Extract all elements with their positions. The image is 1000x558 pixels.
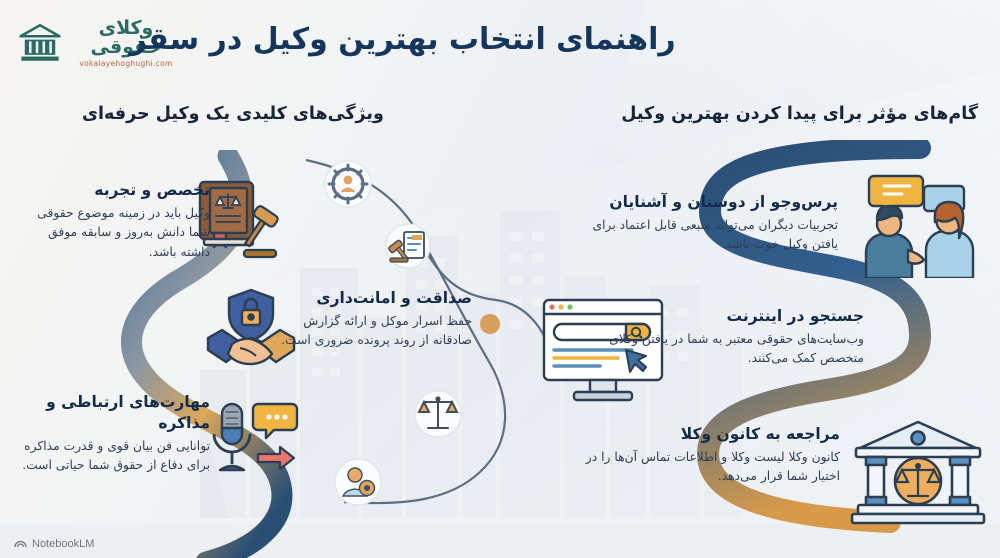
spine-node-person-badge xyxy=(335,459,381,505)
page-title: راهنمای انتخاب بهترین وکیل در سقز xyxy=(0,22,805,57)
step-body: کانون وکلا لیست وکلا و اطلاعات تماس آن‌ه… xyxy=(572,448,840,487)
footer-band xyxy=(0,524,1000,558)
trait-item-honesty: صداقت و امانت‌داری حفظ اسرار موکل و ارائ… xyxy=(272,288,472,351)
notebooklm-watermark: NotebookLM xyxy=(14,537,94,550)
infographic-canvas: وکلای حقوقی vokalayehoghughi.com راهنمای… xyxy=(0,0,1000,558)
step-title: جستجو در اینترنت xyxy=(600,306,864,327)
section-heading-traits: ویژگی‌های کلیدی یک وکیل حرفه‌ای xyxy=(82,104,384,124)
trait-title: صداقت و امانت‌داری xyxy=(272,288,472,309)
spine-dot-accent xyxy=(480,314,500,334)
courthouse-scales-icon xyxy=(848,418,988,526)
trait-item-expertise: تخصص و تجربه وکیل باید در زمینه موضوع حق… xyxy=(24,180,210,262)
step-title: پرس‌وجو از دوستان و آشنایان xyxy=(590,192,838,213)
trait-body: حفظ اسرار موکل و ارائه گزارش صادقانه از … xyxy=(272,312,472,351)
step-item-internet-search: جستجو در اینترنت وب‌سایت‌های حقوقی معتبر… xyxy=(600,306,864,369)
trait-body: وکیل باید در زمینه موضوع حقوقی شما دانش … xyxy=(24,204,210,262)
microphone-speech-icon xyxy=(208,396,300,484)
watermark-label: NotebookLM xyxy=(32,538,94,550)
spine-node-document-gavel xyxy=(386,224,430,268)
trait-item-communication: مهارت‌های ارتباطی و مذاکره توانایی فن بی… xyxy=(22,392,210,476)
section-heading-steps: گام‌های مؤثر برای پیدا کردن بهترین وکیل xyxy=(621,104,978,124)
step-title: مراجعه به کانون وکلا xyxy=(572,424,840,445)
trait-title: تخصص و تجربه xyxy=(24,180,210,201)
spine-node-gear-person xyxy=(325,161,371,207)
spine-node-scales xyxy=(415,391,461,437)
step-item-bar-association: مراجعه به کانون وکلا کانون وکلا لیست وکل… xyxy=(572,424,840,487)
notebooklm-icon xyxy=(14,537,27,550)
trait-title: مهارت‌های ارتباطی و مذاکره xyxy=(22,392,210,434)
step-body: وب‌سایت‌های حقوقی معتبر به شما در یافتن … xyxy=(600,330,864,369)
logo-domain: vokalayehoghughi.com xyxy=(70,60,182,68)
step-body: تجربیات دیگران می‌تواند منبعی قابل اعتما… xyxy=(590,216,838,255)
step-item-ask-friends: پرس‌وجو از دوستان و آشنایان تجربیات دیگر… xyxy=(590,192,838,255)
trait-body: توانایی فن بیان قوی و قدرت مذاکره برای د… xyxy=(22,437,210,476)
two-people-talking-icon xyxy=(850,166,990,278)
